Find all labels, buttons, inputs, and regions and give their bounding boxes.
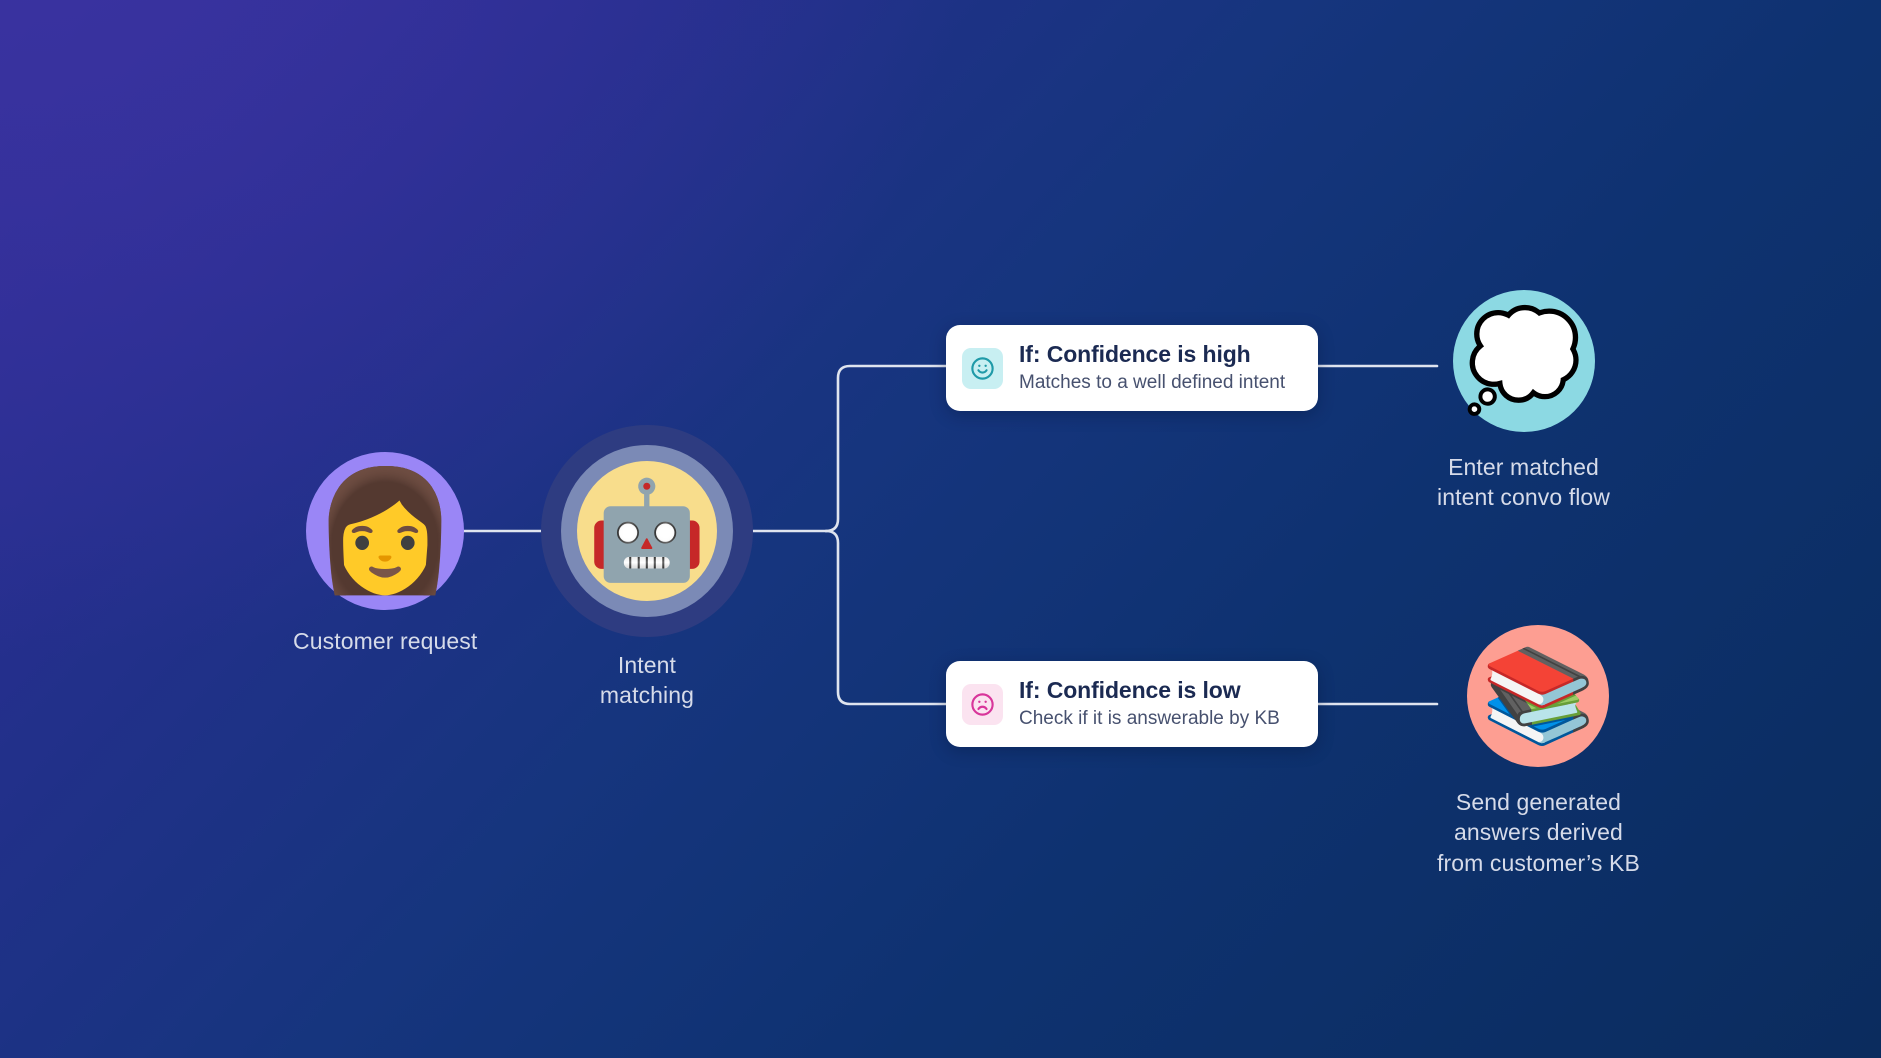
card-confidence-high[interactable]: If: Confidence is high Matches to a well… xyxy=(946,325,1318,411)
intent-matching-outer-ring: 🤖 xyxy=(541,425,753,637)
customer-request-circle: 👩 xyxy=(306,452,464,610)
smiley-face-icon xyxy=(962,348,1003,389)
intent-matching-mid-ring: 🤖 xyxy=(561,445,733,617)
node-customer-request[interactable]: 👩 Customer request xyxy=(293,452,477,656)
node-send-generated-answers[interactable]: 📚 Send generated answers derived from cu… xyxy=(1437,625,1640,878)
node-intent-matching[interactable]: 🤖 Intent matching xyxy=(541,425,753,711)
node-enter-matched-intent-convo-flow[interactable]: 💭 Enter matched intent convo flow xyxy=(1437,290,1610,513)
card-confidence-high-title: If: Confidence is high xyxy=(1019,341,1285,368)
books-emoji: 📚 xyxy=(1481,650,1596,742)
robot-emoji: 🤖 xyxy=(587,483,707,579)
node-label-send-generated-answers: Send generated answers derived from cust… xyxy=(1437,787,1640,878)
card-confidence-low-text: If: Confidence is low Check if it is ans… xyxy=(1019,677,1280,732)
edge-branch-to-low-card xyxy=(826,531,946,704)
connector-lines xyxy=(0,0,1881,1058)
card-confidence-low-subtitle: Check if it is answerable by KB xyxy=(1019,707,1280,732)
node-label-customer-request: Customer request xyxy=(293,626,477,656)
frowning-face-icon xyxy=(962,684,1003,725)
thought-balloon-emoji: 💭 xyxy=(1464,313,1584,409)
woman-emoji: 👩 xyxy=(312,472,459,590)
card-confidence-low[interactable]: If: Confidence is low Check if it is ans… xyxy=(946,661,1318,747)
diagram-canvas: 👩 Customer request 🤖 Intent matching If:… xyxy=(0,0,1881,1058)
node-label-intent-matching: Intent matching xyxy=(600,650,694,711)
card-confidence-high-text: If: Confidence is high Matches to a well… xyxy=(1019,341,1285,396)
edge-branch-to-high-card xyxy=(826,366,946,531)
node-label-convo-flow: Enter matched intent convo flow xyxy=(1437,452,1610,513)
intent-matching-inner-circle: 🤖 xyxy=(577,461,717,601)
card-confidence-high-subtitle: Matches to a well defined intent xyxy=(1019,371,1285,396)
card-confidence-low-title: If: Confidence is low xyxy=(1019,677,1280,704)
knowledge-base-circle: 📚 xyxy=(1467,625,1609,767)
convo-flow-circle: 💭 xyxy=(1453,290,1595,432)
